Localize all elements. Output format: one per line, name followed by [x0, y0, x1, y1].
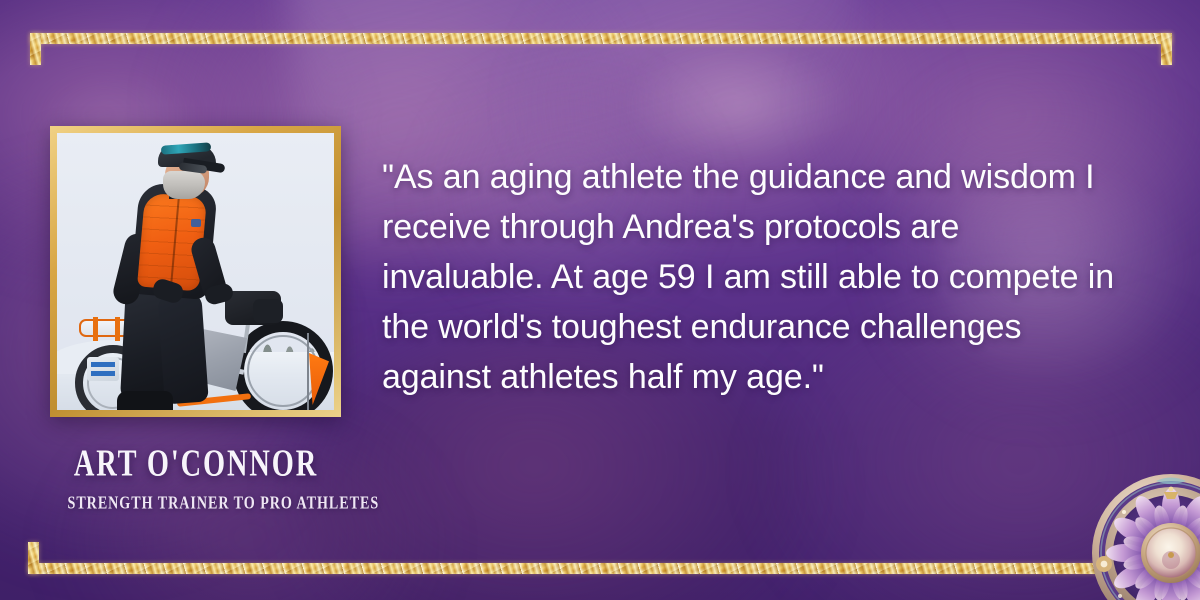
- attribution-block: ART O'CONNOR STRENGTH TRAINER TO PRO ATH…: [50, 443, 342, 512]
- gold-corner-bracket-bottom-left: [28, 542, 39, 574]
- photo-bike-handlebar-bag: [253, 299, 283, 323]
- gold-top-border: [30, 33, 1172, 44]
- photo-bike-strap: [93, 317, 98, 341]
- photo-bike-pannier: [87, 357, 119, 381]
- photo-bike-flag-pole: [307, 333, 309, 410]
- photo-rider-leg: [157, 292, 209, 405]
- author-photo-frame: [50, 126, 341, 417]
- photo-rider-boot: [117, 391, 173, 410]
- gold-corner-bracket-top-right: [1161, 33, 1172, 65]
- photo-bike-pannier-stripe: [91, 362, 115, 367]
- medallion-core: [1141, 523, 1200, 583]
- author-role: STRENGTH TRAINER TO PRO ATHLETES: [68, 494, 325, 514]
- lotus-mandala-medallion: [1090, 472, 1200, 600]
- photo-bike-pannier-stripe: [91, 371, 115, 376]
- photo-rider-beard: [163, 171, 205, 199]
- author-photo: [57, 133, 334, 410]
- gold-corner-bracket-top-left: [30, 33, 41, 65]
- gold-bottom-border: [28, 563, 1172, 574]
- photo-rider-vest-logo: [191, 219, 201, 227]
- author-name: ART O'CONNOR: [70, 443, 321, 486]
- testimonial-quote: "As an aging athlete the guidance and wi…: [382, 152, 1124, 402]
- photo-bike-strap: [115, 317, 120, 341]
